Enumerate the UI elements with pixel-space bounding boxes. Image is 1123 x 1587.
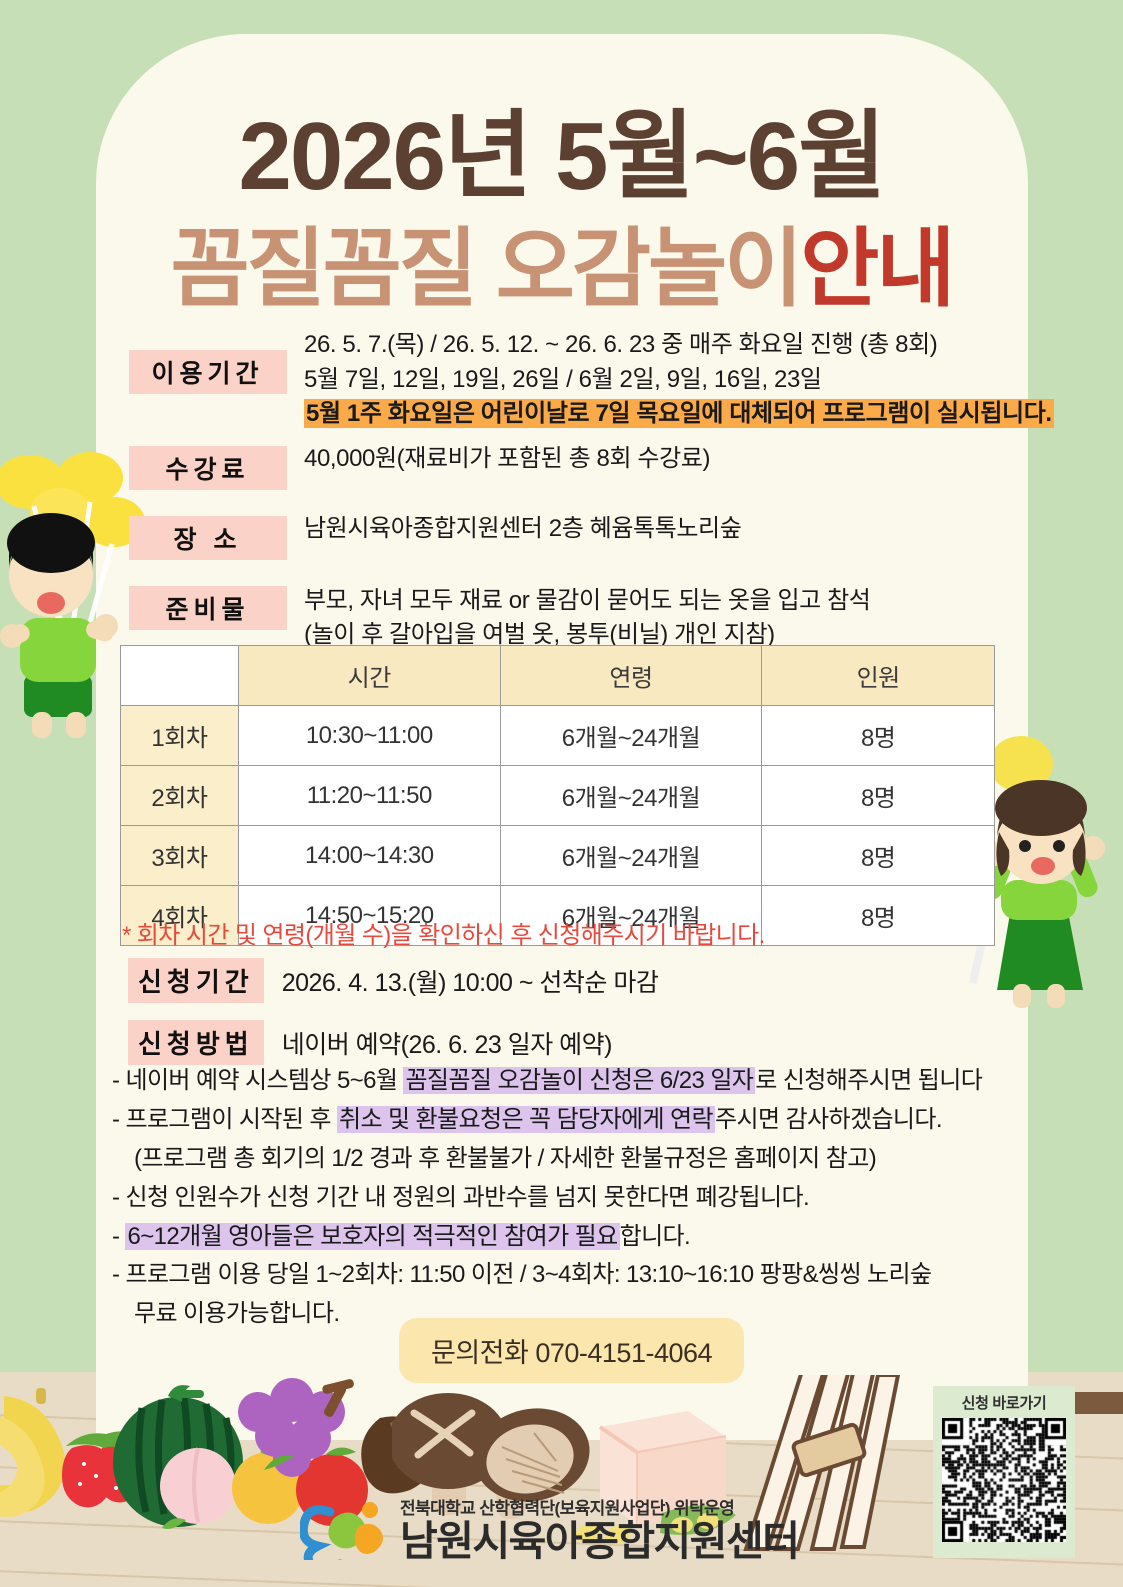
th-corner — [121, 646, 239, 706]
info-row-fee: 수강료 40,000원(재료비가 포함된 총 8회 수강료) — [125, 442, 1065, 490]
notice-bullet-2: - 프로그램이 시작된 후 취소 및 환불요청은 꼭 담당자에게 연락주시면 감… — [112, 1101, 1072, 1140]
cell-capacity: 8명 — [762, 706, 995, 766]
info-row-bring: 준비물 부모, 자녀 모두 재료 or 물감이 묻어도 되는 옷을 입고 참석 … — [125, 584, 1065, 653]
th-age: 연령 — [500, 646, 762, 706]
label-period: 이용기간 — [129, 350, 287, 394]
bullet-2-segment-2: 취소 및 환불요청은 꼭 담당자에게 연락 — [337, 1106, 715, 1133]
page-title: 2026년 5월~6월 — [0, 78, 1123, 217]
qr-panel[interactable]: 신청 바로가기 — [933, 1386, 1075, 1558]
footer-org-name: 남원시육아종합지원센터 — [400, 1519, 798, 1563]
bullet-5-segment-2: 6~12개월 영아들은 보호자의 적극적인 참여가 필요 — [125, 1223, 619, 1250]
cell-session: 2회차 — [121, 766, 239, 826]
value-place: 남원시육아종합지원센터 2층 혜윰톡톡노리숲 — [290, 512, 1065, 547]
value-fee: 40,000원(재료비가 포함된 총 8회 수강료) — [290, 442, 1065, 477]
bullet-1-segment-1: - 네이버 예약 시스템상 5~6월 — [112, 1067, 403, 1094]
notice-bullet-3: (프로그램 총 회기의 1/2 경과 후 환불불가 / 자세한 환불규정은 홈페… — [112, 1140, 1072, 1179]
bring-line-1: 부모, 자녀 모두 재료 or 물감이 묻어도 되는 옷을 입고 참석 — [304, 584, 1065, 619]
notice-bullet-1: - 네이버 예약 시스템상 5~6월 꼼질꼼질 오감놀이 신청은 6/23 일자… — [112, 1062, 1072, 1101]
bullet-5-segment-3: 합니다. — [620, 1223, 691, 1250]
notice-bullet-list: - 네이버 예약 시스템상 5~6월 꼼질꼼질 오감놀이 신청은 6/23 일자… — [112, 1062, 1072, 1334]
schedule-table: 시간 연령 인원 1회차 10:30~11:00 6개월~24개월 8명 2회차… — [120, 645, 995, 946]
footer-branding: 전북대학교 산학협력단(보육지원사업단) 위탁운영 남원시육아종합지원센터 — [300, 1494, 798, 1563]
schedule-warning-note: * 회차 시간 및 연령(개월 수)을 확인하신 후 신청해주시기 바랍니다. — [122, 915, 765, 950]
qr-code-image[interactable] — [942, 1418, 1066, 1542]
bullet-2-segment-3: 주시면 감사하겠습니다. — [715, 1106, 942, 1133]
cell-session: 1회차 — [121, 706, 239, 766]
label-place: 장 소 — [129, 516, 287, 560]
period-line-1: 26. 5. 7.(목) / 26. 5. 12. ~ 26. 6. 23 중 … — [304, 328, 1065, 363]
value-apply-period: 2026. 4. 13.(월) 10:00 ~ 선착순 마감 — [282, 963, 659, 999]
center-logo-icon — [300, 1498, 392, 1560]
label-bring: 준비물 — [129, 586, 287, 630]
cell-age: 6개월~24개월 — [500, 706, 762, 766]
cell-capacity: 8명 — [762, 766, 995, 826]
notice-bullet-6: - 프로그램 이용 당일 1~2회차: 11:50 이전 / 3~4회차: 13… — [112, 1256, 1072, 1295]
table-row: 2회차 11:20~11:50 6개월~24개월 8명 — [121, 766, 995, 826]
footer-org-subtitle: 전북대학교 산학협력단(보육지원사업단) 위탁운영 — [400, 1494, 798, 1519]
banana-icon — [0, 1388, 65, 1517]
info-row-period: 이용기간 26. 5. 7.(목) / 26. 5. 12. ~ 26. 6. … — [125, 328, 1065, 432]
table-header-row: 시간 연령 인원 — [121, 646, 995, 706]
cell-capacity: 8명 — [762, 886, 995, 946]
label-apply-period: 신청기간 — [128, 958, 264, 1003]
th-time: 시간 — [238, 646, 500, 706]
bullet-5-segment-1: - — [112, 1223, 125, 1250]
apply-period-row: 신청기간 2026. 4. 13.(월) 10:00 ~ 선착순 마감 — [128, 958, 658, 1003]
value-apply-method: 네이버 예약(26. 6. 23 일자 예약) — [282, 1025, 612, 1061]
cell-time: 11:20~11:50 — [238, 766, 500, 826]
notice-bullet-5: - 6~12개월 영아들은 보호자의 적극적인 참여가 필요합니다. — [112, 1218, 1072, 1257]
qr-label: 신청 바로가기 — [933, 1392, 1075, 1413]
bullet-3-segment-1: (프로그램 총 회기의 1/2 경과 후 환불불가 / 자세한 환불규정은 홈페… — [134, 1145, 876, 1172]
bullet-6-segment-1: - 프로그램 이용 당일 1~2회차: 11:50 이전 / 3~4회차: 13… — [112, 1261, 931, 1288]
schedule-table-head: 시간 연령 인원 — [121, 646, 995, 706]
label-fee: 수강료 — [129, 446, 287, 490]
bullet-1-segment-2: 꼼질꼼질 오감놀이 신청은 6/23 일자 — [403, 1067, 755, 1094]
cell-session: 3회차 — [121, 826, 239, 886]
cell-age: 6개월~24개월 — [500, 826, 762, 886]
poster-root: 2026년 5월~6월 꼼질꼼질 오감놀이안내 이용기간 26. 5. 7.(목… — [0, 0, 1123, 1587]
cell-time: 10:30~11:00 — [238, 706, 500, 766]
schedule-table-body: 1회차 10:30~11:00 6개월~24개월 8명 2회차 11:20~11… — [121, 706, 995, 946]
cell-capacity: 8명 — [762, 826, 995, 886]
bullet-2-segment-1: - 프로그램이 시작된 후 — [112, 1106, 337, 1133]
subtitle-program-name: 꼼질꼼질 오감놀이 — [170, 221, 800, 317]
info-section: 이용기간 26. 5. 7.(목) / 26. 5. 12. ~ 26. 6. … — [125, 328, 1065, 663]
table-row: 1회차 10:30~11:00 6개월~24개월 8명 — [121, 706, 995, 766]
apply-method-row: 신청방법 네이버 예약(26. 6. 23 일자 예약) — [128, 1020, 612, 1065]
bullet-1-segment-3: 로 신청해주시면 됩니다 — [755, 1067, 982, 1094]
period-substitution-notice: 5월 1주 화요일은 어린이날로 7일 목요일에 대체되어 프로그램이 실시됩니… — [304, 399, 1054, 428]
value-period: 26. 5. 7.(목) / 26. 5. 12. ~ 26. 6. 23 중 … — [290, 328, 1065, 432]
label-apply-method: 신청방법 — [128, 1020, 264, 1065]
notice-bullet-4: - 신청 인원수가 신청 기간 내 정원의 과반수를 넘지 못한다면 폐강됩니다… — [112, 1179, 1072, 1218]
value-bring: 부모, 자녀 모두 재료 or 물감이 묻어도 되는 옷을 입고 참석 (놀이 … — [290, 584, 1065, 653]
bullet-7-segment-1: 무료 이용가능합니다. — [134, 1300, 339, 1327]
subtitle-notice-word: 안내 — [800, 221, 952, 317]
table-row: 3회차 14:00~14:30 6개월~24개월 8명 — [121, 826, 995, 886]
period-line-2: 5월 7일, 12일, 19일, 26일 / 6월 2일, 9일, 16일, 2… — [304, 363, 1065, 398]
cell-age: 6개월~24개월 — [500, 766, 762, 826]
bullet-4-segment-1: - 신청 인원수가 신청 기간 내 정원의 과반수를 넘지 못한다면 폐강됩니다… — [112, 1184, 809, 1211]
info-row-place: 장 소 남원시육아종합지원센터 2층 혜윰톡톡노리숲 — [125, 512, 1065, 560]
th-capacity: 인원 — [762, 646, 995, 706]
cell-time: 14:00~14:30 — [238, 826, 500, 886]
page-subtitle: 꼼질꼼질 오감놀이안내 — [0, 198, 1123, 323]
contact-phone-pill: 문의전화 070-4151-4064 — [399, 1318, 744, 1383]
